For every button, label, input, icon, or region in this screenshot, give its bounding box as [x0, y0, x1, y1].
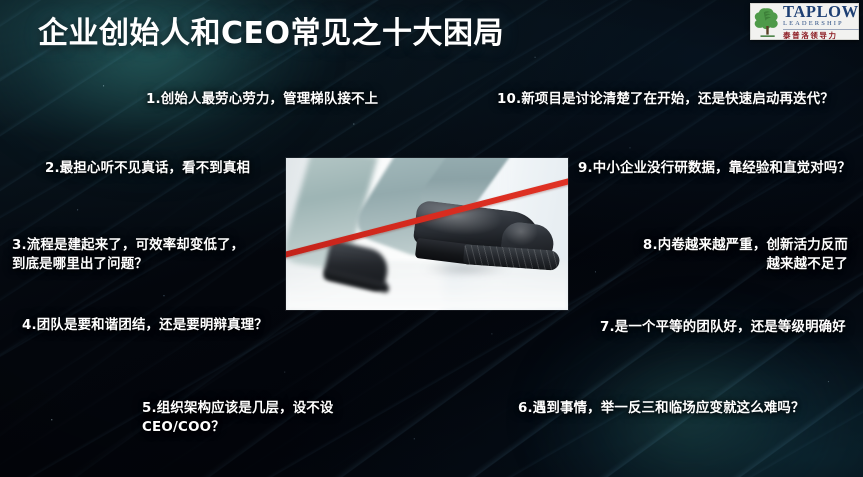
tree-icon — [754, 6, 781, 38]
bullet-item-8: 8.内卷越来越严重，创新活力反而 越来越不足了 — [643, 236, 848, 274]
bullet-item-1: 1.创始人最劳心劳力，管理梯队接不上 — [146, 90, 378, 109]
page-title: 企业创始人和CEO常见之十大困局 — [38, 8, 504, 52]
logo-divider — [783, 29, 859, 30]
bullet-item-4: 4.团队是要和谐团结，还是要明辩真理？ — [22, 316, 268, 335]
bullet-item-5: 5.组织架构应该是几层，设不设 CEO/COO？ — [142, 399, 333, 437]
bullet-item-6: 6.遇到事情，举一反三和临场应变就这么难吗？ — [518, 399, 805, 418]
logo-tagline: LEADERSHIP — [783, 20, 859, 28]
bullet-item-2: 2.最担心听不见真话，看不到真相 — [45, 159, 250, 178]
presentation-slide: 企业创始人和CEO常见之十大困局 TAPLOW LEADERSHIP 泰普洛领导… — [0, 0, 863, 477]
logo-chinese-name: 泰普洛领导力 — [783, 31, 859, 40]
logo-text-block: TAPLOW LEADERSHIP 泰普洛领导力 — [783, 3, 859, 40]
bullet-item-3: 3.流程是建起来了，可效率却变低了， 到底是哪里出了问题？ — [12, 236, 244, 274]
logo-brand: TAPLOW — [783, 3, 859, 20]
bullet-item-7: 7.是一个平等的团队好，还是等级明确好 — [600, 318, 863, 337]
bullet-item-10: 10.新项目是讨论清楚了在开始，还是快速启动再迭代？ — [497, 90, 834, 109]
bullet-item-9: 9.中小企业没行研数据，靠经验和直觉对吗？ — [578, 159, 851, 178]
center-photo — [286, 158, 568, 310]
company-logo: TAPLOW LEADERSHIP 泰普洛领导力 — [750, 3, 859, 40]
